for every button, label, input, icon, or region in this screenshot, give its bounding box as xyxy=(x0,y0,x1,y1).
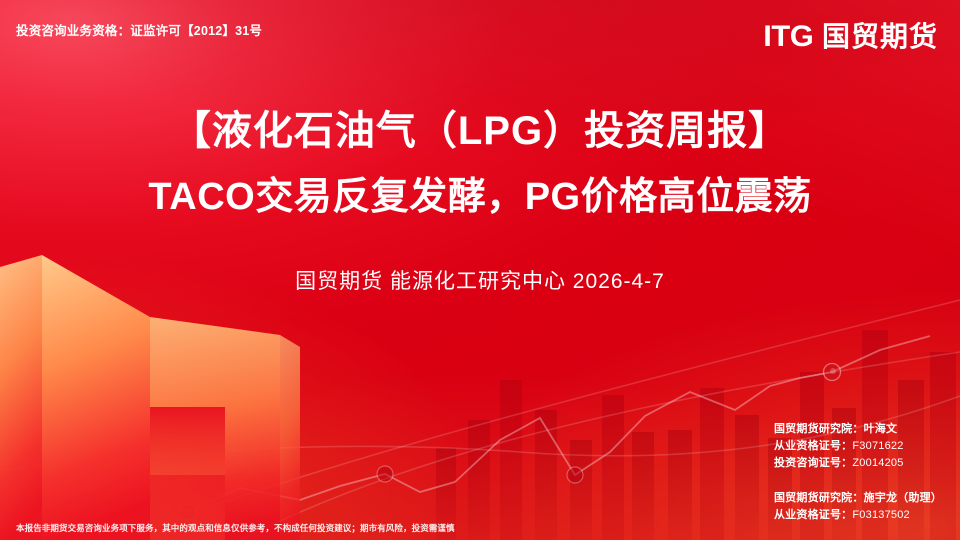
analyst-consult-number: Z0014205 xyxy=(852,457,903,469)
logo-company-name: 国贸期货 xyxy=(822,23,938,51)
report-title-line-1: 【液化石油气（LPG）投资周报】 xyxy=(0,104,960,158)
analyst-practice-label: 从业资格证号： xyxy=(774,440,852,452)
report-cover-slide: 投资咨询业务资格：证监许可【2012】31号 ITG 国贸期货 【液化石油气（L… xyxy=(0,0,960,540)
analyst-block-assistant: 国贸期货研究院：施宇龙（助理） 从业资格证号：F03137502 xyxy=(774,490,942,524)
analyst-institution-row: 国贸期货研究院：叶海文 xyxy=(774,421,942,438)
analyst-consult-label: 投资咨询证号： xyxy=(774,457,852,469)
assistant-name: 施宇龙（助理） xyxy=(864,492,942,504)
analyst-practice-row: 从业资格证号：F3071622 xyxy=(774,438,942,455)
assistant-institution-label: 国贸期货研究院： xyxy=(774,492,864,504)
assistant-institution-row: 国贸期货研究院：施宇龙（助理） xyxy=(774,490,942,507)
company-logo: ITG 国贸期货 xyxy=(764,22,938,52)
analyst-credentials: 国贸期货研究院：叶海文 从业资格证号：F3071622 投资咨询证号：Z0014… xyxy=(774,421,942,524)
title-block: 【液化石油气（LPG）投资周报】 TACO交易反复发酵，PG价格高位震荡 国贸期… xyxy=(0,104,960,295)
analyst-institution-label: 国贸期货研究院： xyxy=(774,423,864,435)
qualification-statement: 投资咨询业务资格：证监许可【2012】31号 xyxy=(16,20,262,39)
analyst-block-primary: 国贸期货研究院：叶海文 从业资格证号：F3071622 投资咨询证号：Z0014… xyxy=(774,421,942,472)
analyst-name: 叶海文 xyxy=(864,423,898,435)
disclaimer-text: 本报告非期货交易咨询业务项下服务，其中的观点和信息仅供参考，不构成任何投资建议；… xyxy=(16,522,455,534)
logo-mark-itg: ITG xyxy=(764,22,814,52)
assistant-practice-label: 从业资格证号： xyxy=(774,509,852,521)
report-title-line-2: TACO交易反复发酵，PG价格高位震荡 xyxy=(0,172,960,223)
report-subtitle: 国贸期货 能源化工研究中心 2026-4-7 xyxy=(0,265,960,295)
analyst-practice-number: F3071622 xyxy=(852,440,903,452)
assistant-practice-number: F03137502 xyxy=(852,509,909,521)
assistant-practice-row: 从业资格证号：F03137502 xyxy=(774,507,942,524)
analyst-consult-row: 投资咨询证号：Z0014205 xyxy=(774,455,942,472)
